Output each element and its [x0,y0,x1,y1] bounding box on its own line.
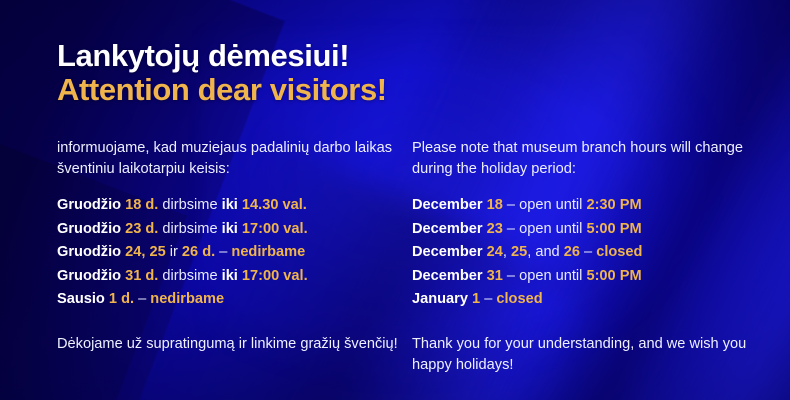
hours-segment: iki [222,268,242,284]
hours-segment: 18 [487,197,503,213]
hours-list-english: December 18 – open until 2:30 PMDecember… [412,194,747,312]
hours-segment: – open until [503,268,587,284]
hours-segment: December [412,221,487,237]
hours-segment: – open until [503,197,587,213]
hours-segment: 2:30 PM [586,197,641,213]
hours-segment: 23 [487,221,503,237]
hours-segment: 25 [511,244,527,260]
hours-segment: 31 d. [125,268,158,284]
hours-row: December 31 – open until 5:00 PM [412,265,747,289]
hours-segment: 1 [472,291,480,307]
announcement-poster: Lankytojų dėmesiui! Attention dear visit… [0,0,790,400]
hours-segment: 17:00 val. [242,221,308,237]
hours-segment: 26 d. [182,244,215,260]
column-english: Please note that museum branch hours wil… [412,138,747,376]
hours-segment: – [480,291,496,307]
hours-segment: 24, 25 [125,244,166,260]
hours-row: December 18 – open until 2:30 PM [412,194,747,218]
headline-block: Lankytojų dėmesiui! Attention dear visit… [57,40,387,105]
poster-content: Lankytojų dėmesiui! Attention dear visit… [0,0,790,400]
hours-segment: closed [596,244,642,260]
hours-segment: 5:00 PM [586,268,641,284]
hours-segment: 17:00 val. [242,268,308,284]
hours-segment: 24 [487,244,503,260]
hours-list-lithuanian: Gruodžio 18 d. dirbsime iki 14.30 val.Gr… [57,194,412,312]
intro-text-lithuanian: informuojame, kad muziejaus padalinių da… [57,138,412,180]
hours-segment: Gruodžio [57,221,125,237]
hours-segment: December [412,244,487,260]
hours-segment: , and [527,244,564,260]
hours-segment: – [134,291,150,307]
closing-text-english: Thank you for your understanding, and we… [412,334,747,376]
hours-segment: closed [496,291,542,307]
hours-segment: iki [222,197,242,213]
hours-segment: 1 d. [109,291,134,307]
hours-segment: 5:00 PM [586,221,641,237]
hours-segment: iki [222,221,242,237]
hours-row: December 23 – open until 5:00 PM [412,218,747,242]
hours-segment: December [412,197,487,213]
column-lithuanian: informuojame, kad muziejaus padalinių da… [57,138,412,376]
hours-segment: Gruodžio [57,268,125,284]
hours-row: January 1 – closed [412,288,747,312]
hours-segment: nedirbame [231,244,305,260]
hours-segment: nedirbame [150,291,224,307]
hours-segment: December [412,268,487,284]
hours-segment: 14.30 val. [242,197,307,213]
hours-segment: Gruodžio [57,244,125,260]
hours-segment: 31 [487,268,503,284]
hours-segment: 26 [564,244,580,260]
hours-segment: 23 d. [125,221,158,237]
hours-segment: dirbsime [158,268,221,284]
hours-segment: ir [166,244,182,260]
closing-text-lithuanian: Dėkojame už supratingumą ir linkime graž… [57,334,412,355]
hours-row: Gruodžio 31 d. dirbsime iki 17:00 val. [57,265,412,289]
hours-segment: – [215,244,231,260]
hours-row: Gruodžio 23 d. dirbsime iki 17:00 val. [57,218,412,242]
hours-row: December 24, 25, and 26 – closed [412,241,747,265]
hours-segment: 18 d. [125,197,158,213]
hours-segment: Sausio [57,291,109,307]
hours-segment: Gruodžio [57,197,125,213]
hours-row: Sausio 1 d. – nedirbame [57,288,412,312]
columns-container: informuojame, kad muziejaus padalinių da… [57,138,747,376]
headline-lithuanian: Lankytojų dėmesiui! [57,40,387,71]
hours-segment: , [503,244,511,260]
hours-segment: – [580,244,596,260]
hours-segment: dirbsime [158,221,221,237]
hours-row: Gruodžio 24, 25 ir 26 d. – nedirbame [57,241,412,265]
hours-segment: dirbsime [158,197,221,213]
hours-row: Gruodžio 18 d. dirbsime iki 14.30 val. [57,194,412,218]
hours-segment: – open until [503,221,587,237]
hours-segment: January [412,291,472,307]
headline-english: Attention dear visitors! [57,74,387,105]
intro-text-english: Please note that museum branch hours wil… [412,138,747,180]
